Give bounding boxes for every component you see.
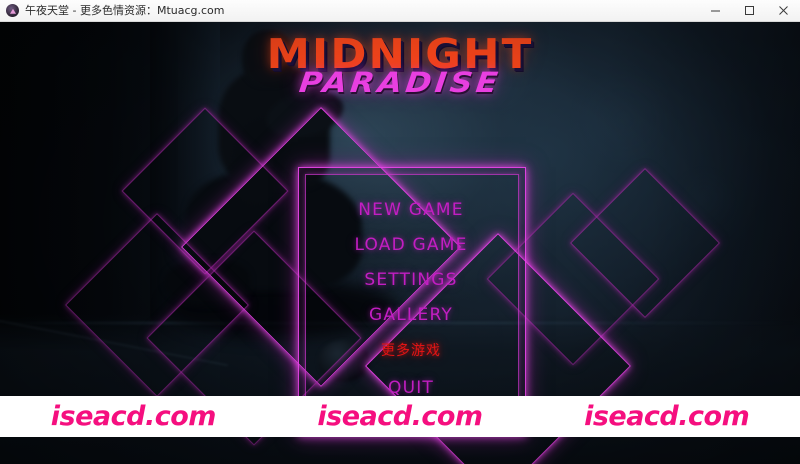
menu-item-quit[interactable]: QUIT — [388, 378, 434, 398]
window-title: 午夜天堂 - 更多色情资源：Mtuacg.com — [25, 0, 225, 22]
menu-item-new-game[interactable]: NEW GAME — [358, 200, 463, 220]
menu-item-more-games[interactable]: 更多游戏 — [381, 340, 441, 360]
menu-item-gallery[interactable]: GALLERY — [369, 305, 453, 325]
menu-item-settings[interactable]: SETTINGS — [364, 270, 457, 290]
title-bar: 午夜天堂 - 更多色情资源：Mtuacg.com — [0, 0, 800, 22]
close-icon — [778, 5, 789, 16]
watermark-text-1: iseacd.com — [51, 401, 216, 432]
watermark-banner: iseacd.com iseacd.com iseacd.com — [0, 396, 800, 437]
minimize-button[interactable] — [698, 0, 732, 22]
menu-item-load-game[interactable]: LOAD GAME — [354, 235, 467, 255]
app-icon — [6, 4, 19, 17]
watermark-text-2: iseacd.com — [317, 401, 482, 432]
maximize-icon — [744, 5, 755, 16]
maximize-button[interactable] — [732, 0, 766, 22]
figure-foot — [164, 260, 250, 306]
main-menu: NEW GAME LOAD GAME SETTINGS GALLERY 更多游戏… — [298, 200, 524, 398]
game-viewport: MIDNIGHT PARADISE NEW GAME LOAD GAME SET… — [0, 22, 800, 464]
window-controls — [698, 0, 800, 22]
game-logo: MIDNIGHT PARADISE — [0, 34, 800, 97]
close-button[interactable] — [766, 0, 800, 22]
logo-title-sub: PARADISE — [0, 69, 800, 97]
minimize-icon — [710, 5, 721, 16]
app-window: 午夜天堂 - 更多色情资源：Mtuacg.com — [0, 0, 800, 464]
watermark-text-3: iseacd.com — [584, 401, 749, 432]
